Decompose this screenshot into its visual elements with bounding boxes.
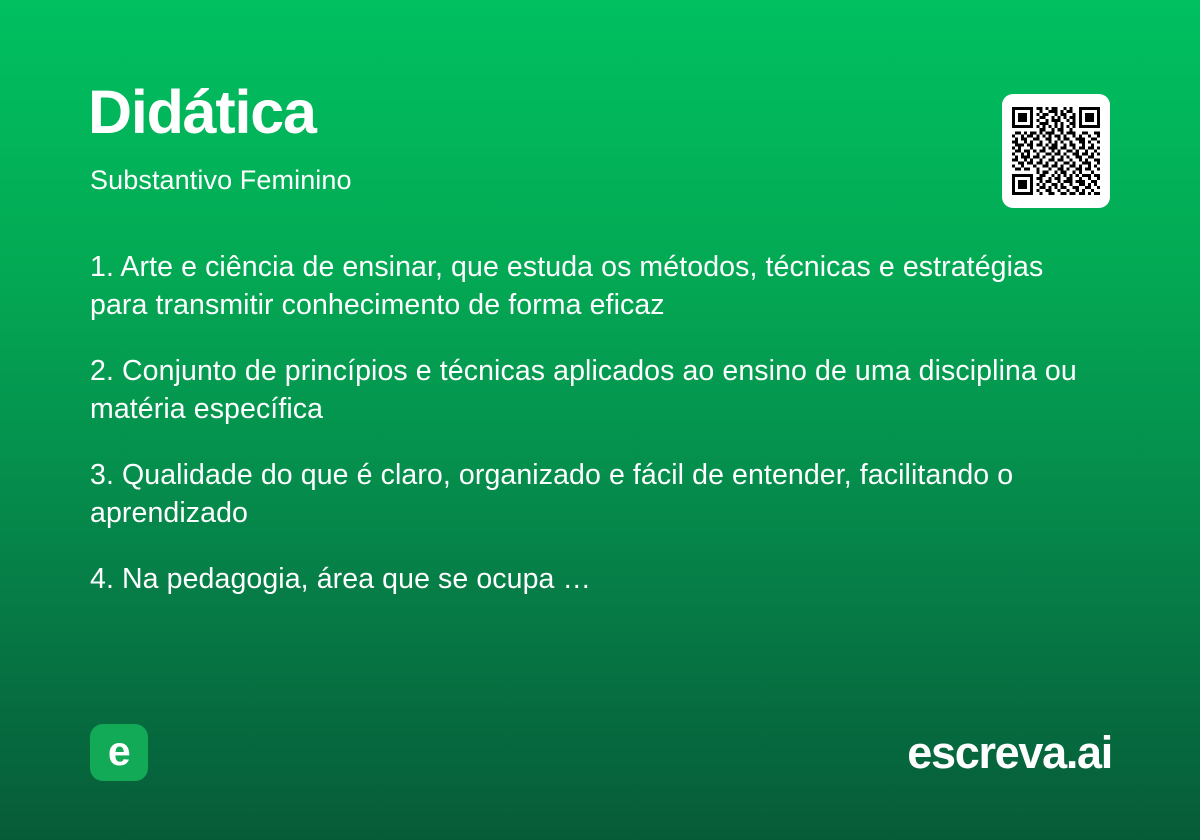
definition-item: 4. Na pedagogia, área que se ocupa … — [90, 560, 1100, 598]
brand-wordmark: escreva.ai — [907, 724, 1112, 781]
definition-item: 2. Conjunto de princípios e técnicas apl… — [90, 352, 1100, 428]
definition-card: Didática Substantivo Feminino — [0, 0, 1200, 840]
definition-item: 3. Qualidade do que é claro, organizado … — [90, 456, 1100, 532]
escreva-logo-icon[interactable]: e — [90, 724, 148, 781]
definition-item: 1. Arte e ciência de ensinar, que estuda… — [90, 248, 1100, 324]
page-title: Didática — [88, 82, 316, 143]
definitions-list: 1. Arte e ciência de ensinar, que estuda… — [90, 248, 1100, 598]
qr-code-card[interactable] — [1002, 94, 1110, 208]
word-class-subtitle: Substantivo Feminino — [90, 167, 352, 194]
qr-code-icon — [1012, 107, 1100, 195]
logo-letter: e — [108, 731, 130, 772]
